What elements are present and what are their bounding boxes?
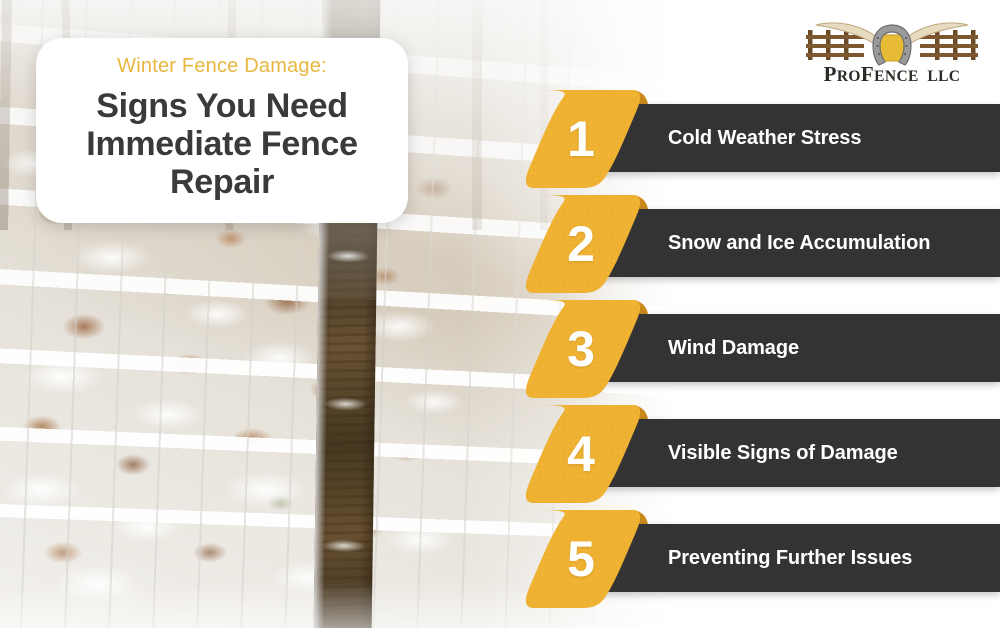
ribbon-tab-5: [520, 510, 648, 608]
company-logo[interactable]: PROFENCE LLC: [792, 8, 992, 86]
page-title: Signs You Need Immediate Fence Repair: [56, 87, 388, 201]
step-label: Preventing Further Issues: [668, 524, 912, 592]
step-label: Wind Damage: [668, 314, 799, 382]
list-item[interactable]: 5 Preventing Further Issues: [0, 506, 1000, 612]
ribbon-tab-3: [520, 300, 648, 398]
infographic-canvas: Winter Fence Damage: Signs You Need Imme…: [0, 0, 1000, 628]
step-label: Snow and Ice Accumulation: [668, 209, 930, 277]
ribbon-tab-4: [520, 405, 648, 503]
ribbon-tab-2: [520, 195, 648, 293]
title-eyebrow: Winter Fence Damage:: [56, 54, 388, 79]
step-label: Cold Weather Stress: [668, 104, 861, 172]
step-label: Visible Signs of Damage: [668, 419, 898, 487]
list-item[interactable]: 3 Wind Damage: [0, 296, 1000, 402]
list-item[interactable]: 4 Visible Signs of Damage: [0, 401, 1000, 507]
logo-wordmark: PROFENCE LLC: [824, 62, 961, 86]
title-card: Winter Fence Damage: Signs You Need Imme…: [36, 38, 408, 223]
ribbon-tab-1: [520, 90, 648, 188]
